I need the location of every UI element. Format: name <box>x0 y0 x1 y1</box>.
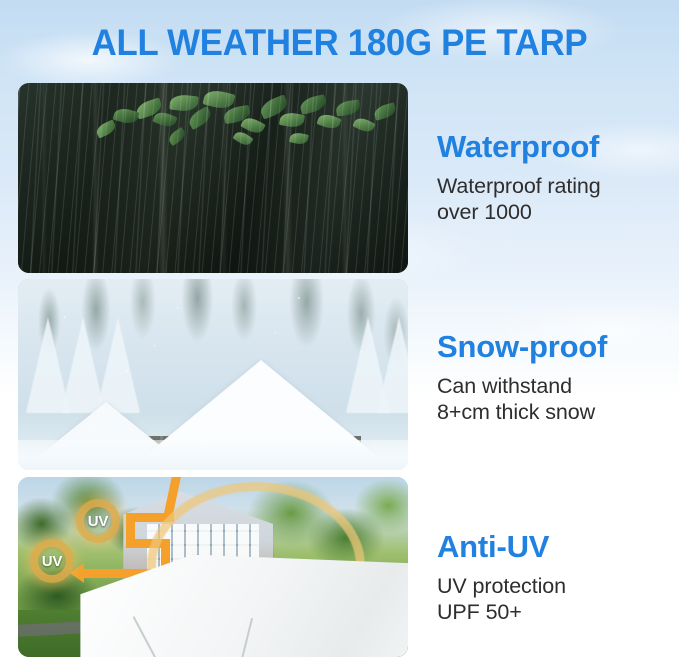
rain-streaks <box>18 83 408 273</box>
uv-badge: UV <box>76 499 120 543</box>
uv-badge: UV <box>30 539 74 583</box>
anti-uv-text: Anti-UV UV protection UPF 50+ <box>437 530 675 625</box>
infographic-page: ALL WEATHER 180G PE TARP <box>0 0 679 664</box>
rain-photo-canvas <box>18 83 408 273</box>
uv-photo: UV UV <box>18 477 408 657</box>
uv-tarp-seam <box>133 616 157 657</box>
snow-photo-canvas <box>18 279 408 470</box>
uv-badge-label: UV <box>42 553 62 570</box>
anti-uv-description-line-2: UPF 50+ <box>437 599 675 625</box>
snow-photo <box>18 279 408 470</box>
snow-proof-description: Can withstand 8+cm thick snow <box>437 373 675 425</box>
waterproof-text: Waterproof Waterproof rating over 1000 <box>437 130 675 225</box>
rain-photo <box>18 83 408 273</box>
snow-proof-description-line-1: Can withstand <box>437 373 675 399</box>
snow-proof-description-line-2: 8+cm thick snow <box>437 399 675 425</box>
falling-snowflakes <box>18 279 408 470</box>
page-title: ALL WEATHER 180G PE TARP <box>20 23 658 63</box>
anti-uv-description: UV protection UPF 50+ <box>437 573 675 625</box>
snow-proof-heading: Snow-proof <box>437 330 675 364</box>
waterproof-description-line-1: Waterproof rating <box>437 173 675 199</box>
uv-photo-canvas: UV UV <box>18 477 408 657</box>
uv-tarp-seam <box>241 618 253 657</box>
anti-uv-description-line-1: UV protection <box>437 573 675 599</box>
waterproof-heading: Waterproof <box>437 130 675 164</box>
snow-proof-text: Snow-proof Can withstand 8+cm thick snow <box>437 330 675 425</box>
waterproof-description: Waterproof rating over 1000 <box>437 173 675 225</box>
uv-badge-label: UV <box>88 513 108 530</box>
waterproof-description-line-2: over 1000 <box>437 199 675 225</box>
anti-uv-heading: Anti-UV <box>437 530 675 564</box>
